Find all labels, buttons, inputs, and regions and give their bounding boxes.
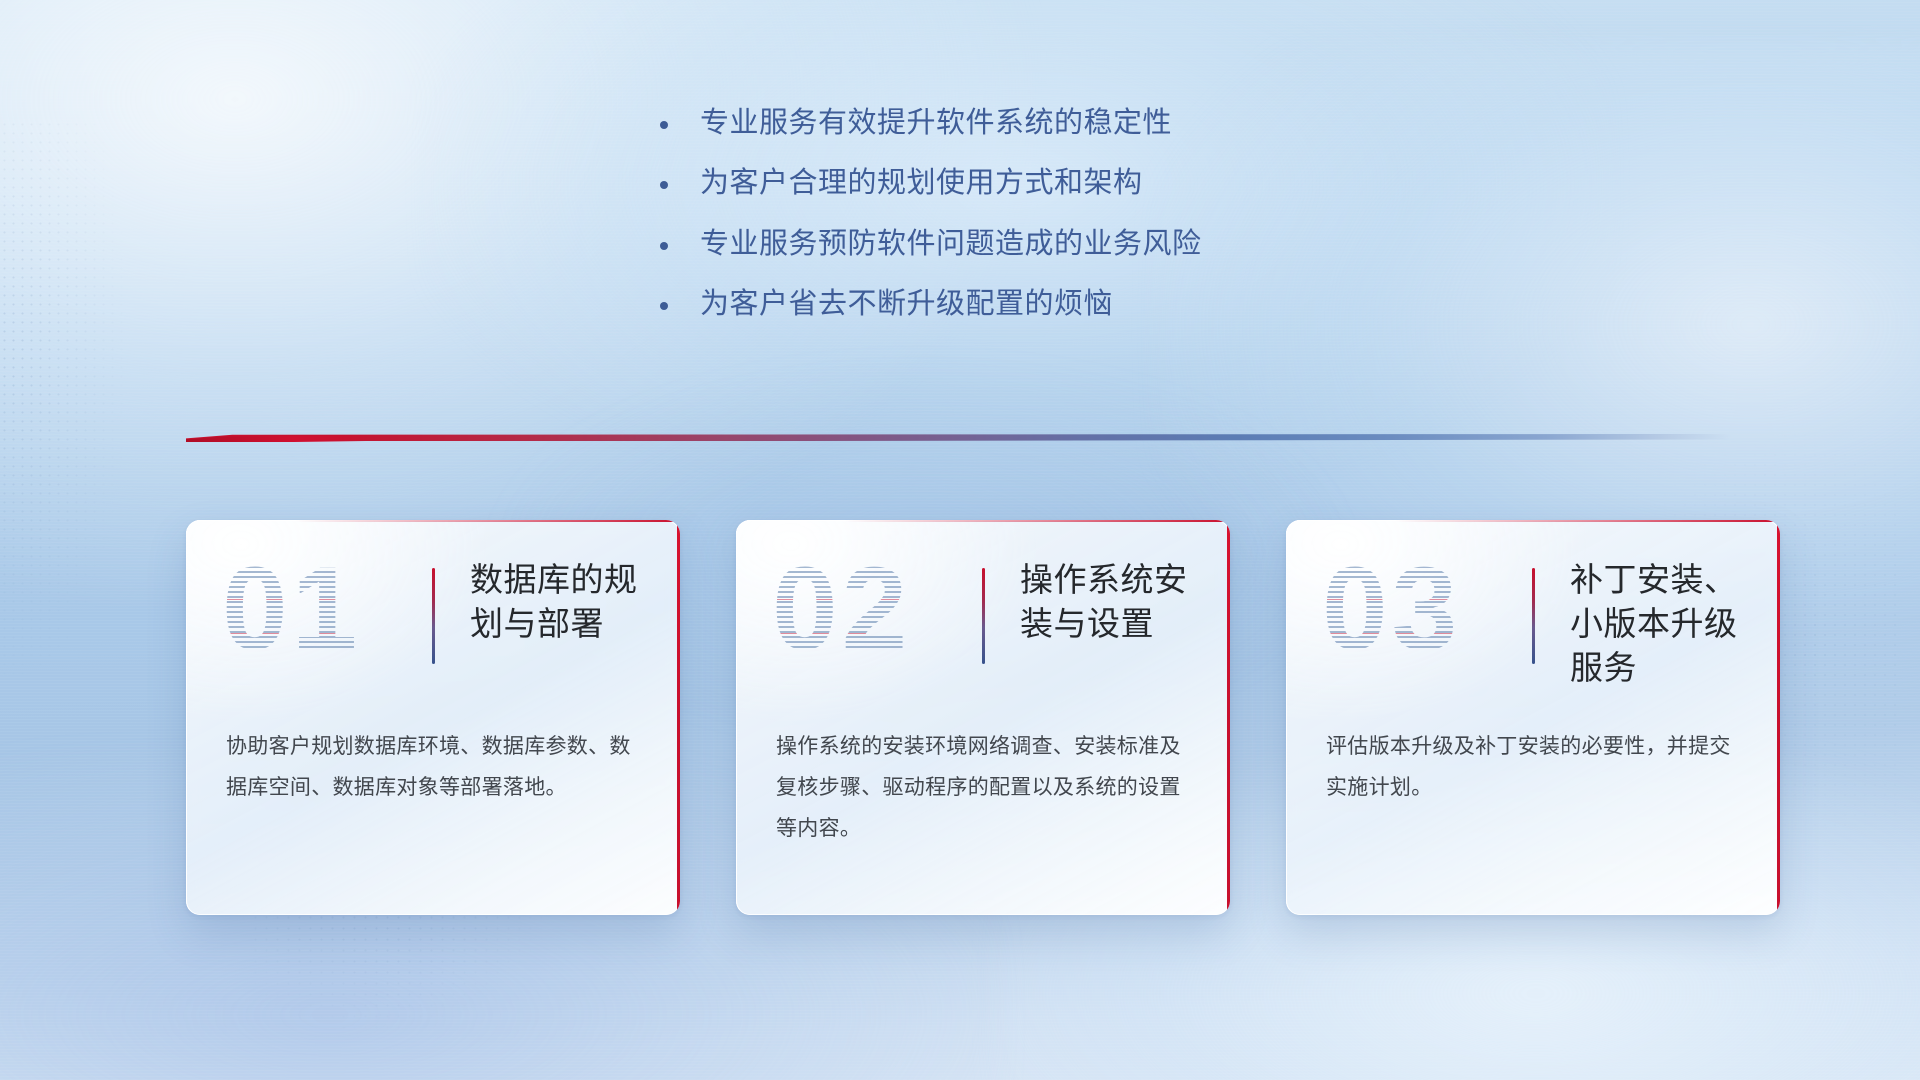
list-item: 为客户合理的规划使用方式和架构 <box>660 164 1202 202</box>
card-number-watermark-red: 01 <box>222 550 361 668</box>
bullet-text: 为客户合理的规划使用方式和架构 <box>700 164 1143 202</box>
service-card-01[interactable]: 01 01 数据库的规划与部署 协助客户规划数据库环境、数据库参数、数据库空间、… <box>186 520 680 915</box>
bullet-text: 专业服务有效提升软件系统的稳定性 <box>700 104 1172 142</box>
card-body-text: 操作系统的安装环境网络调查、安装标准及复核步骤、驱动程序的配置以及系统的设置等内… <box>776 726 1190 849</box>
service-card-02[interactable]: 02 02 操作系统安装与设置 操作系统的安装环境网络调查、安装标准及复核步骤、… <box>736 520 1230 915</box>
title-separator <box>1532 568 1535 664</box>
bullet-dot-icon <box>660 121 668 129</box>
card-number-watermark-red: 03 <box>1322 550 1461 668</box>
card-body-text: 评估版本升级及补丁安装的必要性，并提交实施计划。 <box>1326 726 1740 808</box>
bullet-dot-icon <box>660 302 668 310</box>
card-header: 03 03 补丁安装、小版本升级服务 <box>1286 520 1780 710</box>
section-divider <box>186 428 1731 450</box>
card-header: 01 01 数据库的规划与部署 <box>186 520 680 710</box>
title-separator <box>432 568 435 664</box>
service-card-03[interactable]: 03 03 补丁安装、小版本升级服务 评估版本升级及补丁安装的必要性，并提交实施… <box>1286 520 1780 915</box>
bullet-dot-icon <box>660 242 668 250</box>
card-body-text: 协助客户规划数据库环境、数据库参数、数据库空间、数据库对象等部署落地。 <box>226 726 640 808</box>
service-cards-row: 01 01 数据库的规划与部署 协助客户规划数据库环境、数据库参数、数据库空间、… <box>186 520 1780 915</box>
list-item: 为客户省去不断升级配置的烦恼 <box>660 285 1202 323</box>
divider-gradient-bar <box>186 434 1731 441</box>
bullet-dot-icon <box>660 181 668 189</box>
title-separator <box>982 568 985 664</box>
card-title: 数据库的规划与部署 <box>470 558 670 646</box>
bullet-text: 为客户省去不断升级配置的烦恼 <box>700 285 1113 323</box>
card-header: 02 02 操作系统安装与设置 <box>736 520 1230 710</box>
bullet-text: 专业服务预防软件问题造成的业务风险 <box>700 225 1202 263</box>
list-item: 专业服务预防软件问题造成的业务风险 <box>660 225 1202 263</box>
card-number-watermark-red: 02 <box>772 550 911 668</box>
list-item: 专业服务有效提升软件系统的稳定性 <box>660 104 1202 142</box>
card-title: 补丁安装、小版本升级服务 <box>1570 558 1770 691</box>
benefits-bullet-list: 专业服务有效提升软件系统的稳定性 为客户合理的规划使用方式和架构 专业服务预防软… <box>660 104 1202 323</box>
card-title: 操作系统安装与设置 <box>1020 558 1220 646</box>
